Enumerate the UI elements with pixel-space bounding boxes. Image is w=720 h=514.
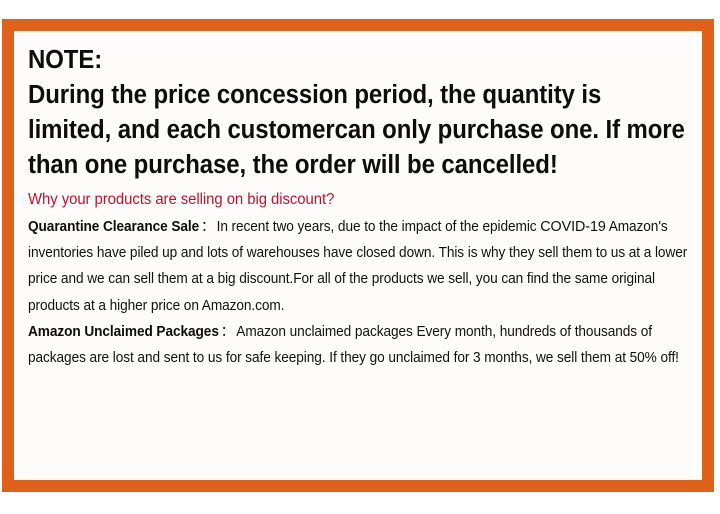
quarantine-text-before-covid: In recent two years, due to the impact o… <box>217 219 541 235</box>
quarantine-clearance-label: Quarantine Clearance Sale <box>28 219 199 235</box>
quarantine-colon: ： <box>199 219 216 235</box>
paragraph-quarantine-clearance-sale: Quarantine Clearance Sale：In recent two … <box>28 214 688 319</box>
orange-bordered-note-box: NOTE: During the price concession period… <box>2 19 714 492</box>
note-inner-panel: NOTE: During the price concession period… <box>14 31 702 480</box>
paragraph-amazon-unclaimed-packages: Amazon Unclaimed Packages：Amazon unclaim… <box>28 319 688 371</box>
note-headline: NOTE: During the price concession period… <box>28 43 688 183</box>
amazon-unclaimed-label: Amazon Unclaimed Packages <box>28 324 219 340</box>
covid-term: COVID-19 <box>540 218 605 235</box>
amazon-unclaimed-colon: ： <box>219 324 236 340</box>
why-discount-heading: Why your products are selling on big dis… <box>28 189 688 211</box>
note-banner-canvas: NOTE: During the price concession period… <box>0 0 720 514</box>
